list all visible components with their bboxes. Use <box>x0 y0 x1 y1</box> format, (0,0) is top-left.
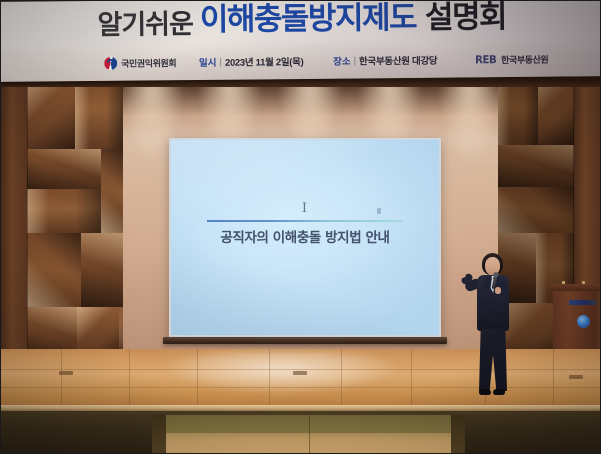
banner-title-script: 알기쉬운 <box>97 9 193 41</box>
place-value: 한국부동산원 대강당 <box>359 53 437 68</box>
floor-vent <box>293 371 307 375</box>
slide-content: Ⅰ 공직자의 이해충돌 방지법 안내 <box>171 202 439 246</box>
slide-section-numeral: Ⅰ <box>171 202 439 215</box>
organizer-name: 국민권익위원회 <box>121 56 176 70</box>
reb-logo-icon: REB <box>475 53 496 66</box>
presenter-raised-hand <box>459 271 466 278</box>
date-value: 2023년 11월 2일(목) <box>225 54 304 69</box>
banner-title-tail: 설명회 <box>425 0 506 36</box>
lectern-control-panel <box>569 300 597 305</box>
date-label: 일시 <box>199 55 217 69</box>
wall-flat-strip <box>1 77 27 361</box>
organizer-block: 국민권익위원회 <box>2 56 192 71</box>
presenter-shoe <box>493 389 505 395</box>
projected-slide: Ⅰ 공직자의 이해충돌 방지법 안내 <box>171 140 439 335</box>
floor-light-reflection <box>151 351 411 395</box>
floor-vent <box>569 375 583 379</box>
slide-heading: 공직자의 이해충돌 방지법 안내 <box>171 230 439 246</box>
host-block: REB 한국부동산원 <box>460 52 601 66</box>
place-label: 장소 <box>333 54 351 68</box>
lectern-top <box>550 284 600 291</box>
taegeuk-emblem-icon <box>104 56 117 69</box>
place-separator: | <box>353 55 356 66</box>
date-separator: | <box>219 56 222 67</box>
screen-roller-bar <box>163 337 447 344</box>
presenter-trousers <box>479 329 507 391</box>
event-date-block: 일시 | 2023년 11월 2일(목) <box>192 54 310 69</box>
presenter-shoe <box>479 389 491 395</box>
projection-screen: Ⅰ 공직자의 이해충돌 방지법 안내 <box>169 138 441 337</box>
lectern-emblem-icon <box>577 315 590 328</box>
slide-divider <box>207 220 403 222</box>
banner-title: 알기쉬운이해충돌방지제도설명회 <box>0 1 601 40</box>
event-place-block: 장소 | 한국부동산원 대강당 <box>310 52 460 67</box>
conference-photo: 알기쉬운이해충돌방지제도설명회 국민권익위원회 일시 | 2023년 11월 2… <box>0 0 601 454</box>
event-banner: 알기쉬운이해충돌방지제도설명회 국민권익위원회 일시 | 2023년 11월 2… <box>0 0 601 82</box>
wood-panel-wall-left <box>1 77 123 361</box>
banner-title-main: 이해충돌방지제도 <box>200 0 417 38</box>
host-name: 한국부동산원 <box>501 52 548 65</box>
lectern-body <box>553 291 597 355</box>
floor-vent <box>59 371 73 375</box>
banner-subline: 국민권익위원회 일시 | 2023년 11월 2일(목) 장소 | 한국부동산원… <box>0 48 601 74</box>
stage-step <box>166 415 451 454</box>
presenter <box>463 253 527 401</box>
